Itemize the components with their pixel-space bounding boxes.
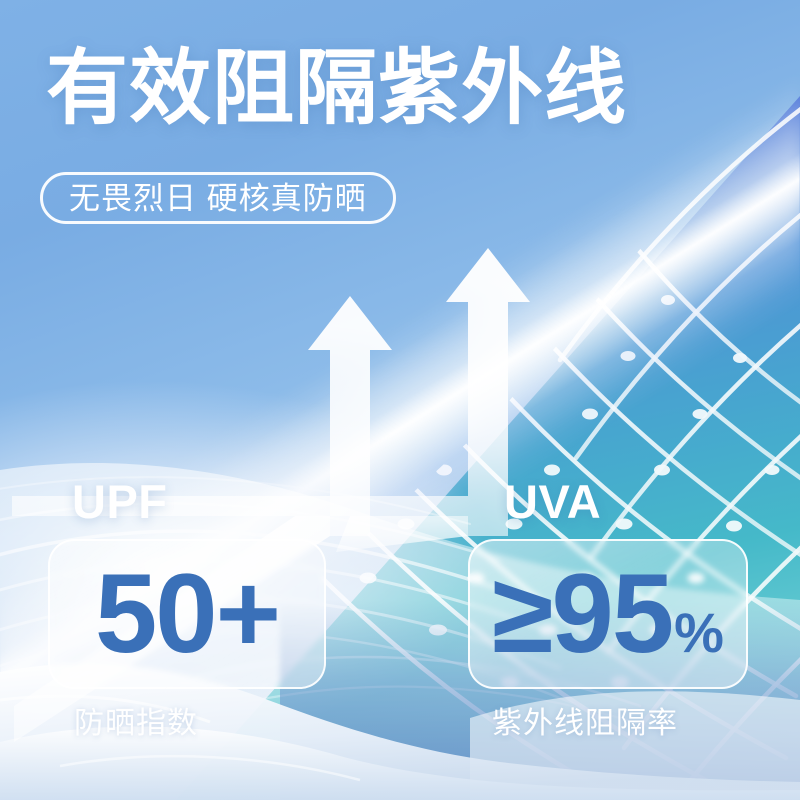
stat-card-uva: ≥95 % [468,539,748,689]
poster-content: 有效阻隔紫外线 无畏烈日 硬核真防晒 UPF 50+ 防晒指数 UVA ≥95 … [0,0,800,800]
sunscreen-promo-poster: 有效阻隔紫外线 无畏烈日 硬核真防晒 UPF 50+ 防晒指数 UVA ≥95 … [0,0,800,800]
stat-tag-uva: UVA [504,478,788,525]
stat-block-upf: UPF 50+ 防晒指数 [48,478,368,739]
stat-value-uva-percent: % [674,605,724,661]
stat-value-uva-number: ≥95 [492,558,672,670]
stat-label-uva: 紫外线阻隔率 [492,709,788,739]
stat-label-upf: 防晒指数 [74,709,368,739]
subtitle-pill: 无畏烈日 硬核真防晒 [40,172,396,224]
stat-value-upf: 50+ [95,558,279,670]
stat-card-upf: 50+ [48,539,326,689]
page-title: 有效阻隔紫外线 [46,48,627,130]
stat-value-upf-number: 50+ [95,558,279,670]
stat-block-uva: UVA ≥95 % 紫外线阻隔率 [468,478,788,739]
subtitle-pill-label: 无畏烈日 硬核真防晒 [69,183,367,214]
stat-value-uva: ≥95 % [492,558,724,670]
stat-tag-upf: UPF [72,478,368,525]
